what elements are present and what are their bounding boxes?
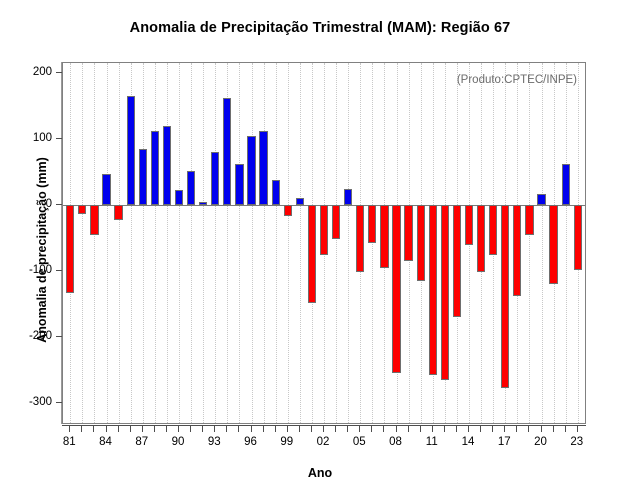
gridline-vertical xyxy=(215,63,216,423)
x-tick xyxy=(214,426,215,432)
bar xyxy=(235,164,243,205)
gridline-vertical xyxy=(107,63,108,423)
gridline-vertical xyxy=(119,63,120,423)
gridline-vertical xyxy=(179,63,180,423)
x-tick xyxy=(263,426,264,432)
x-tick xyxy=(106,426,107,432)
x-tick xyxy=(528,426,529,432)
bar xyxy=(404,205,412,261)
bar xyxy=(380,205,388,268)
bar xyxy=(223,98,231,205)
source-annotation: (Produto:CPTEC/INPE) xyxy=(457,74,577,86)
x-tick xyxy=(275,426,276,432)
gridline-vertical xyxy=(542,63,543,423)
bar xyxy=(417,205,425,281)
bar xyxy=(114,205,122,220)
x-tick xyxy=(178,426,179,432)
gridline-vertical xyxy=(336,63,337,423)
bar xyxy=(441,205,449,380)
x-tick xyxy=(541,426,542,432)
x-tick xyxy=(359,426,360,432)
y-tick-label: 200 xyxy=(33,66,52,78)
gridline-vertical xyxy=(372,63,373,423)
gridline-vertical xyxy=(155,63,156,423)
bar xyxy=(163,126,171,205)
bar xyxy=(501,205,509,388)
x-tick-label: 84 xyxy=(99,436,112,448)
bar xyxy=(296,198,304,205)
bar xyxy=(537,194,545,205)
bar xyxy=(489,205,497,255)
x-tick xyxy=(154,426,155,432)
bar xyxy=(187,171,195,205)
bar xyxy=(211,152,219,205)
x-tick xyxy=(69,426,70,432)
x-axis-line xyxy=(62,425,586,426)
x-tick-label: 05 xyxy=(353,436,366,448)
gridline-vertical xyxy=(82,63,83,423)
gridline-vertical xyxy=(264,63,265,423)
x-tick xyxy=(130,426,131,432)
x-tick-label: 08 xyxy=(389,436,402,448)
x-tick xyxy=(553,426,554,432)
x-tick xyxy=(166,426,167,432)
x-tick-label: 81 xyxy=(63,436,76,448)
x-tick-label: 99 xyxy=(280,436,293,448)
bar xyxy=(344,189,352,206)
gridline-vertical xyxy=(288,63,289,423)
chart-page: Anomalia de Precipitação Trimestral (MAM… xyxy=(0,0,640,500)
bar xyxy=(477,205,485,272)
bar xyxy=(574,205,582,270)
bar xyxy=(453,205,461,317)
bar xyxy=(525,205,533,235)
x-tick xyxy=(202,426,203,432)
x-tick xyxy=(456,426,457,432)
gridline-vertical xyxy=(566,63,567,423)
x-tick xyxy=(371,426,372,432)
x-tick-label: 93 xyxy=(208,436,221,448)
bar xyxy=(356,205,364,272)
x-tick xyxy=(396,426,397,432)
bar xyxy=(151,131,159,205)
x-tick-label: 02 xyxy=(317,436,330,448)
bar xyxy=(332,205,340,239)
x-tick xyxy=(323,426,324,432)
x-tick-label: 96 xyxy=(244,436,257,448)
x-tick-label: 20 xyxy=(534,436,547,448)
bar xyxy=(139,149,147,205)
bar xyxy=(513,205,521,296)
bar xyxy=(66,205,74,293)
x-tick xyxy=(347,426,348,432)
x-tick xyxy=(420,426,421,432)
gridline-vertical xyxy=(143,63,144,423)
gridline-vertical xyxy=(348,63,349,423)
plot-area: (Produto:CPTEC/INPE) xyxy=(62,62,586,424)
x-tick xyxy=(118,426,119,432)
gridline-vertical xyxy=(239,63,240,423)
bar xyxy=(465,205,473,245)
bar xyxy=(175,190,183,205)
x-tick xyxy=(238,426,239,432)
bar xyxy=(199,202,207,205)
page-title: Anomalia de Precipitação Trimestral (MAM… xyxy=(0,20,640,36)
bar xyxy=(284,205,292,216)
x-tick-label: 11 xyxy=(426,436,438,448)
x-tick xyxy=(190,426,191,432)
x-axis: 818487909396990205081114172023 xyxy=(62,425,586,433)
bar xyxy=(368,205,376,243)
x-tick xyxy=(480,426,481,432)
gridline-vertical xyxy=(167,63,168,423)
bar xyxy=(429,205,437,375)
gridline-vertical xyxy=(276,63,277,423)
y-tick-label: -300 xyxy=(29,396,52,408)
bar xyxy=(272,180,280,205)
x-tick-label: 23 xyxy=(570,436,583,448)
x-tick xyxy=(335,426,336,432)
x-tick xyxy=(492,426,493,432)
x-tick xyxy=(226,426,227,432)
bar xyxy=(320,205,328,255)
x-tick xyxy=(516,426,517,432)
bar xyxy=(127,96,135,205)
x-tick xyxy=(287,426,288,432)
bar xyxy=(392,205,400,373)
bar xyxy=(102,174,110,205)
bar xyxy=(562,164,570,205)
plot-inner xyxy=(63,63,585,423)
x-axis-title: Ano xyxy=(0,466,640,480)
x-tick xyxy=(93,426,94,432)
bar xyxy=(308,205,316,303)
y-axis-title: Anomalia de precipitação (mm) xyxy=(35,130,49,370)
bar xyxy=(259,131,267,205)
x-tick xyxy=(408,426,409,432)
bar xyxy=(549,205,557,284)
x-tick-label: 17 xyxy=(498,436,511,448)
x-tick xyxy=(299,426,300,432)
gridline-vertical xyxy=(529,63,530,423)
gridline-vertical xyxy=(203,63,204,423)
x-tick xyxy=(444,426,445,432)
x-tick-label: 14 xyxy=(462,436,475,448)
bar xyxy=(78,205,86,214)
bar xyxy=(90,205,98,235)
x-tick-label: 90 xyxy=(172,436,185,448)
x-tick xyxy=(577,426,578,432)
x-tick-label: 87 xyxy=(135,436,148,448)
gridline-vertical xyxy=(191,63,192,423)
x-tick xyxy=(311,426,312,432)
x-tick xyxy=(383,426,384,432)
x-tick xyxy=(565,426,566,432)
bar xyxy=(247,136,255,205)
x-tick xyxy=(504,426,505,432)
x-tick xyxy=(142,426,143,432)
x-tick xyxy=(432,426,433,432)
x-tick xyxy=(81,426,82,432)
gridline-vertical xyxy=(300,63,301,423)
x-tick xyxy=(251,426,252,432)
gridline-vertical xyxy=(94,63,95,423)
x-tick xyxy=(468,426,469,432)
gridline-vertical xyxy=(252,63,253,423)
